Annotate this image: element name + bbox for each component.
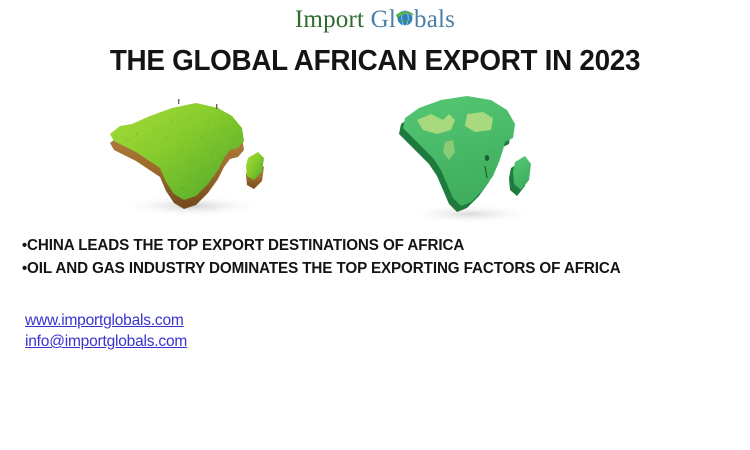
website-link[interactable]: www.importglobals.com — [25, 310, 187, 331]
bullet-text: CHINA LEADS THE TOP EXPORT DESTINATIONS … — [27, 237, 464, 254]
logo-text-gl: Gl — [371, 6, 396, 33]
email-link[interactable]: info@importglobals.com — [25, 331, 187, 352]
contact-links: www.importglobals.com info@importglobals… — [25, 310, 187, 352]
brand-logo[interactable]: Import Gl bals — [0, 7, 750, 32]
logo-text-bals: bals — [414, 6, 455, 33]
page-title: THE GLOBAL AFRICAN EXPORT IN 2023 — [15, 45, 735, 78]
africa-map-green-flat — [375, 86, 560, 231]
list-item: •CHINA LEADS THE TOP EXPORT DESTINATIONS… — [22, 234, 723, 257]
bullet-text: OIL AND GAS INDUSTRY DOMINATES THE TOP E… — [27, 260, 621, 277]
list-item: •OIL AND GAS INDUSTRY DOMINATES THE TOP … — [22, 257, 723, 280]
bullet-list: •CHINA LEADS THE TOP EXPORT DESTINATIONS… — [22, 234, 737, 280]
logo-text-import: Import — [295, 6, 364, 33]
africa-map-grass-3d — [92, 86, 287, 221]
slide-canvas: Import Gl bals THE GLOBAL AFRICAN EXPORT… — [0, 0, 750, 450]
globe-icon — [395, 8, 415, 28]
